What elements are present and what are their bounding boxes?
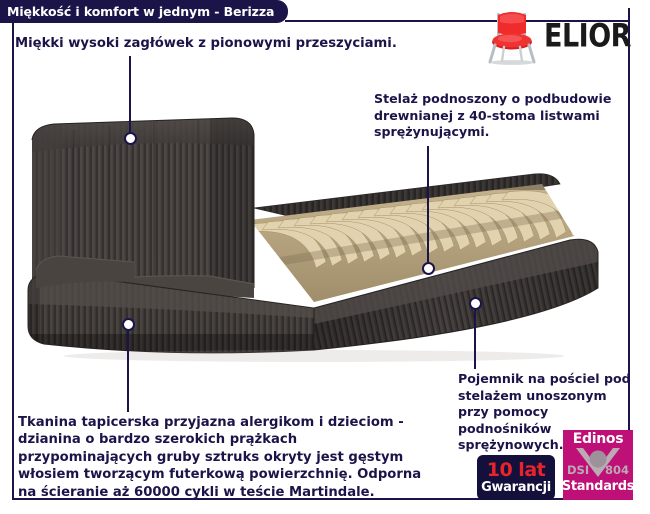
warranty-label: Gwarancji <box>481 481 551 494</box>
warranty-years: 10 lat <box>487 461 545 480</box>
product-infographic: Miękkość i komfort w jednym - Berizza EL… <box>0 0 650 514</box>
callout-slats-leader <box>427 146 429 268</box>
callout-storage-marker[interactable] <box>469 297 482 310</box>
upholstered-bed-photo <box>14 112 628 362</box>
callout-line: Miękki wysoki zagłówek z pionowymi przes… <box>15 35 415 52</box>
callout-fabric-leader <box>127 324 129 412</box>
edinos-title: Edinos <box>573 432 624 447</box>
callout-storage-leader <box>474 303 476 369</box>
callout-line: dzianina o bardzo szerokich prążkach <box>18 431 424 448</box>
callout-line: przy pomocy <box>458 404 636 421</box>
header-banner: Miękkość i komfort w jednym - Berizza <box>0 0 288 23</box>
edinos-standards-label: Standards <box>563 479 633 494</box>
edinos-badge: Edinos DSI 804 Standards <box>563 430 633 500</box>
edinos-dsi-code: DSI <box>567 463 589 477</box>
red-chair-icon <box>486 7 538 65</box>
edinos-number-code: 804 <box>605 463 629 477</box>
callout-fabric-marker[interactable] <box>122 318 135 331</box>
callout-slats-marker[interactable] <box>422 262 435 275</box>
callout-headboard-marker[interactable] <box>124 132 137 145</box>
callout-line: stelażem unoszonym <box>458 388 636 405</box>
callout-line: włosiem tworzącym futerkową powierzchnię… <box>18 466 424 483</box>
callout-headboard-text: Miękki wysoki zagłówek z pionowymi przes… <box>15 35 415 52</box>
callout-line: Tkanina tapicerska przyjazna alergikom i… <box>18 414 424 431</box>
callout-line: przypominających gruby sztruks okryty je… <box>18 449 424 466</box>
callout-line: sprężynującymi. <box>374 124 636 141</box>
callout-headboard-leader <box>129 56 131 138</box>
callout-line: na ścieranie aż 60000 cykli w teście Mar… <box>18 484 424 501</box>
callout-slats-text: Stelaż podnoszony o podbudowie drewniane… <box>374 91 636 141</box>
callout-line: Stelaż podnoszony o podbudowie <box>374 91 636 108</box>
callout-line: drewnianej z 40-stoma listwami <box>374 108 636 125</box>
brand-logo: ELIOR <box>486 6 618 66</box>
warranty-badge: 10 lat Gwarancji <box>477 455 555 500</box>
callout-fabric-text: Tkanina tapicerska przyjazna alergikom i… <box>18 414 424 501</box>
page-title: Miękkość i komfort w jednym - Berizza <box>0 4 274 19</box>
edinos-v-mark-icon: DSI 804 <box>563 446 633 480</box>
callout-line: Pojemnik na pościel pod <box>458 371 636 388</box>
brand-name: ELIOR <box>544 20 631 52</box>
